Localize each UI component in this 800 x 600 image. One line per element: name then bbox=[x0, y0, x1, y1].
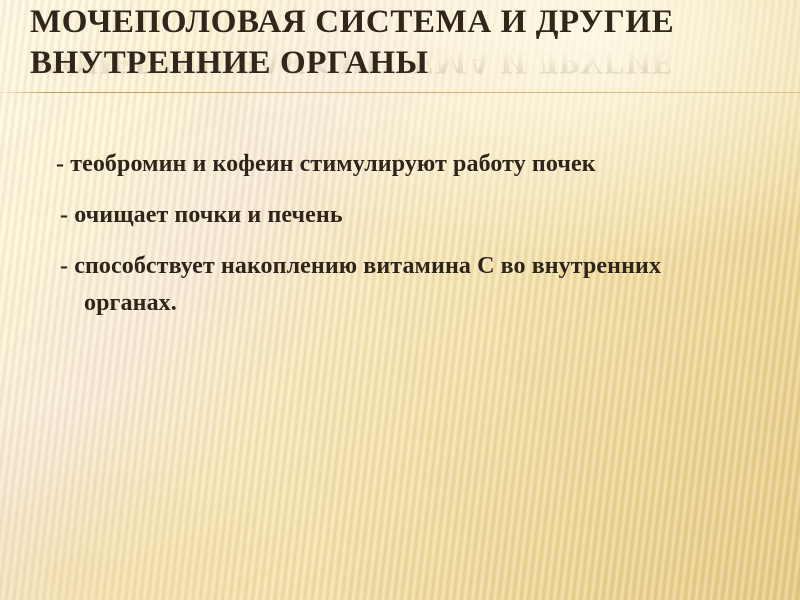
bullet-item: - способствует накоплению витамина С во … bbox=[44, 248, 760, 322]
slide-body-content: - теобромин и кофеин стимулируют работу … bbox=[44, 146, 760, 336]
presentation-slide: Мочеполовая система и другие внутренние … bbox=[0, 0, 800, 600]
bullet-item: - теобромин и кофеин стимулируют работу … bbox=[44, 146, 760, 183]
bullet-item: - очищает почки и печень bbox=[44, 197, 760, 234]
slide-title: Мочеполовая система и другие внутренние … bbox=[30, 2, 770, 84]
slide-title-block: Мочеполовая система и другие внутренние … bbox=[30, 2, 770, 116]
title-divider-line bbox=[0, 92, 800, 93]
